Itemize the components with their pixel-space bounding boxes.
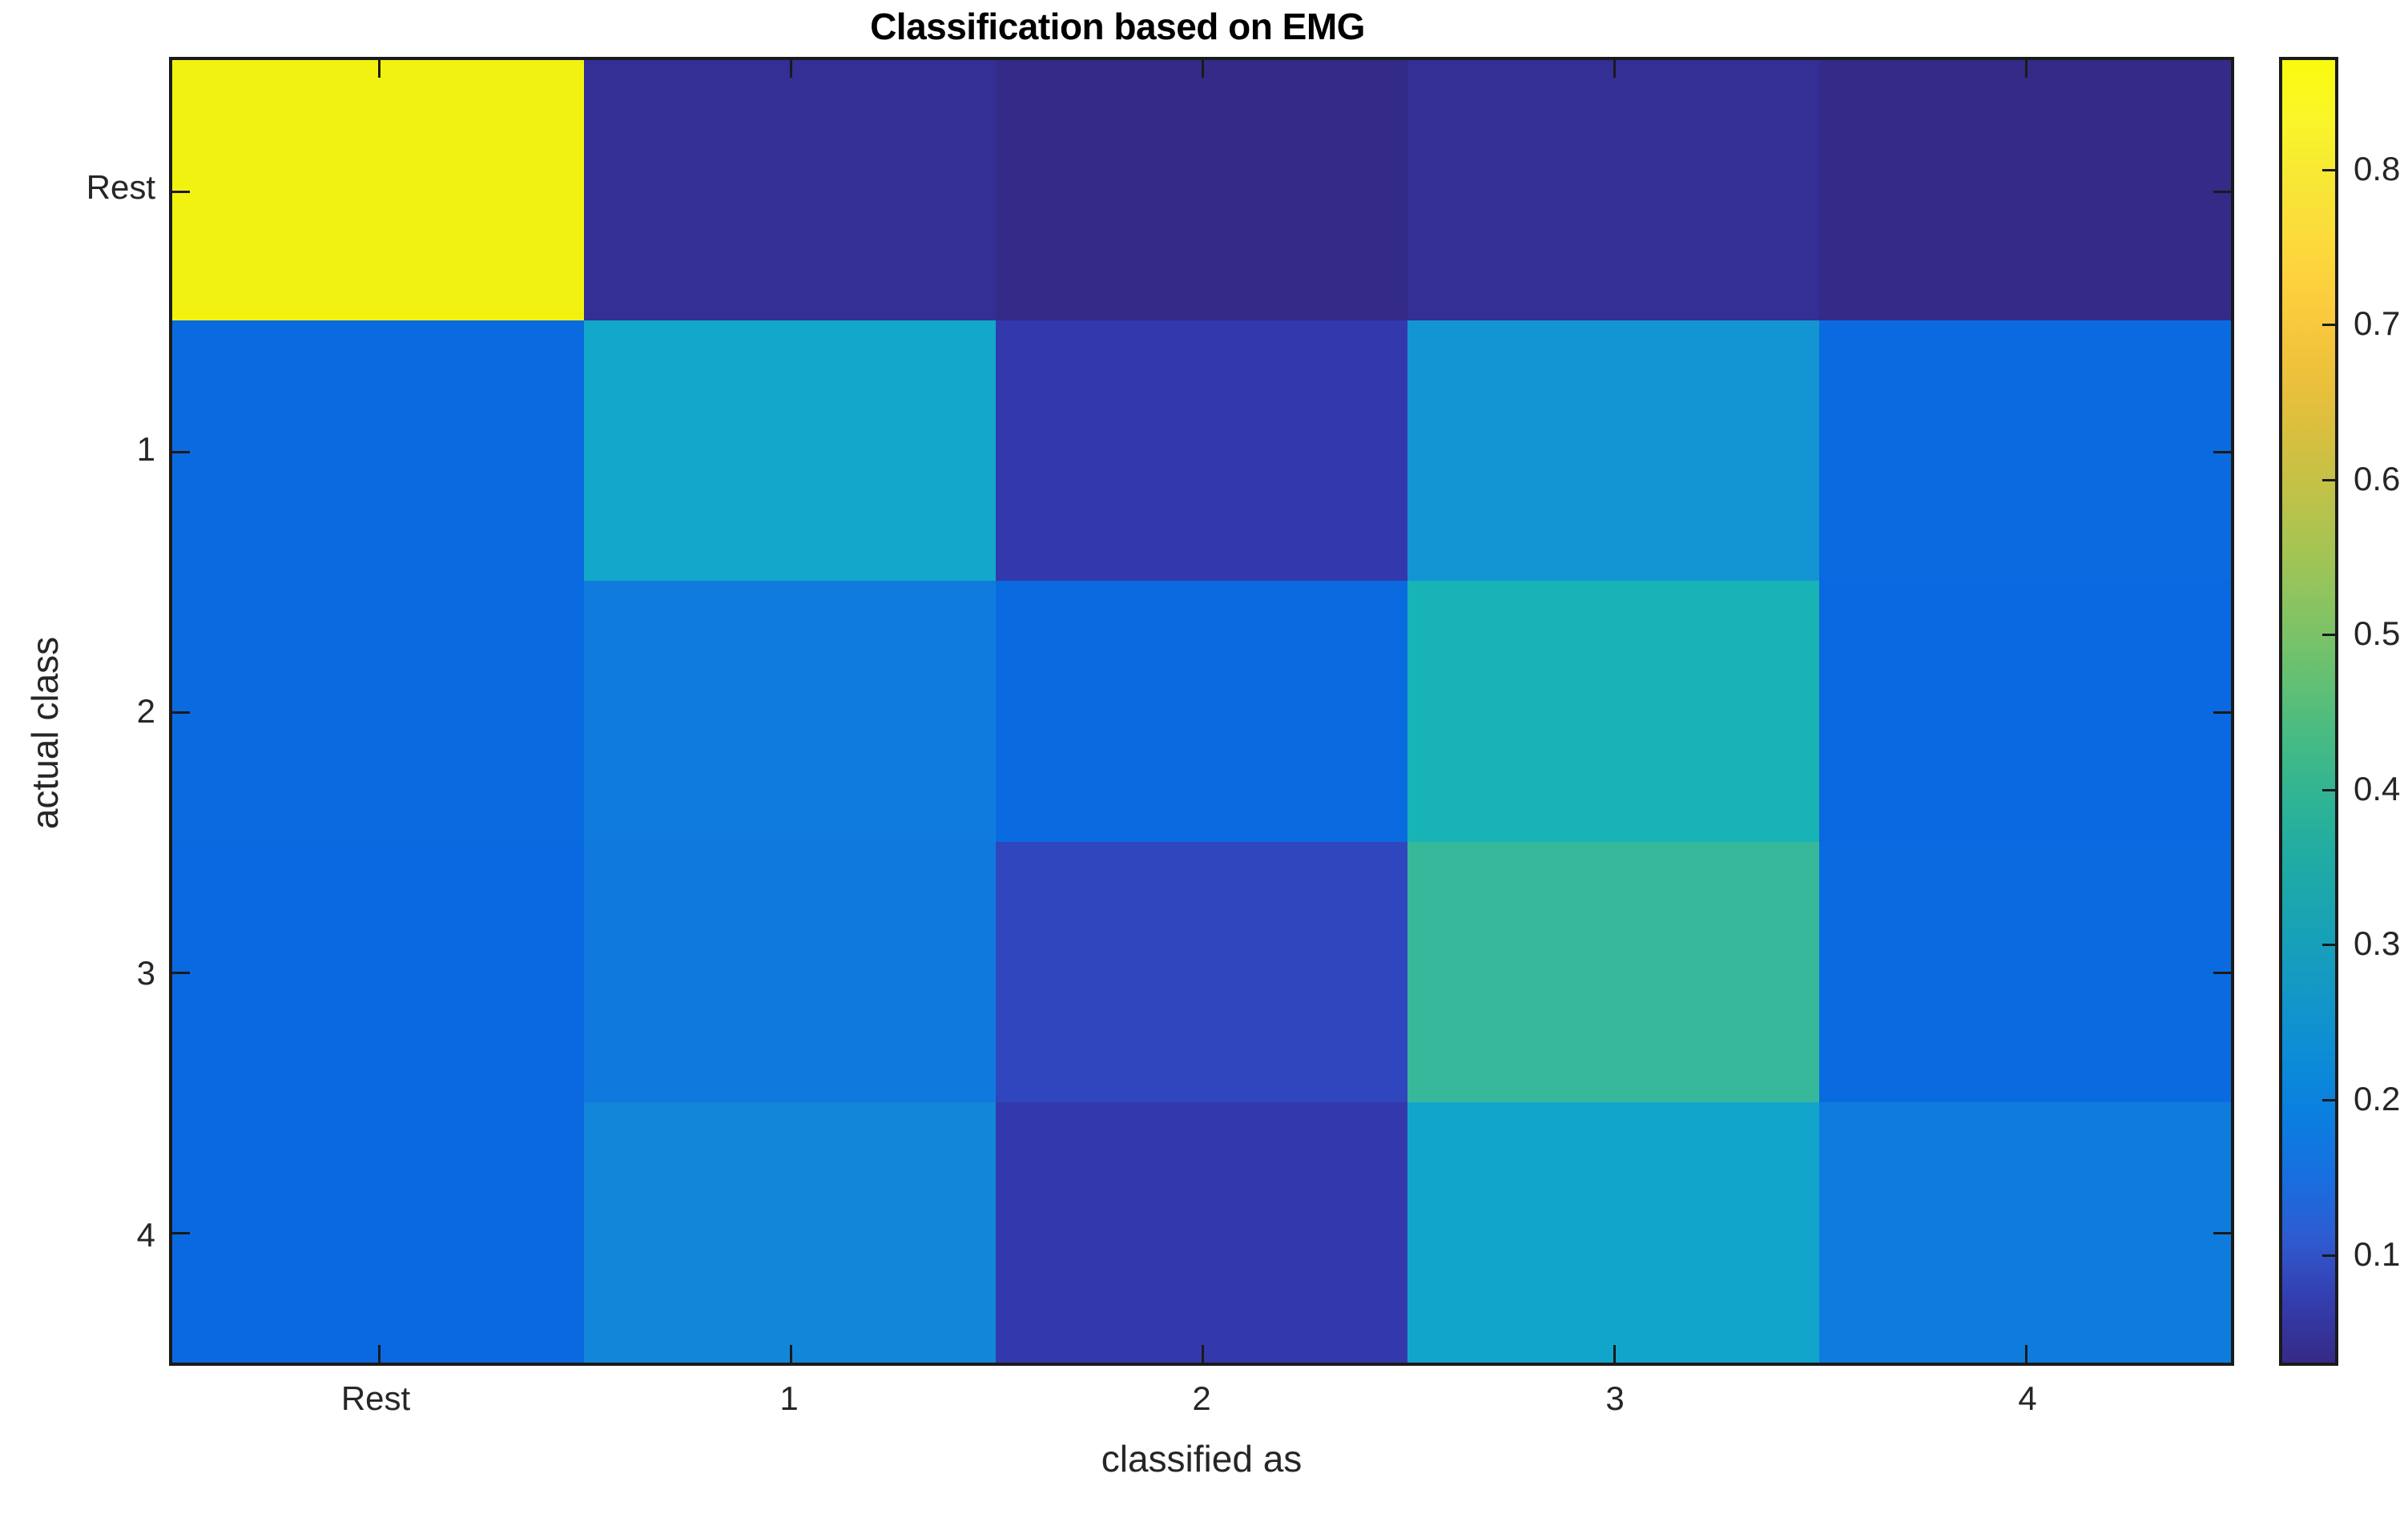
y-axis-tick: [2213, 711, 2231, 714]
colorbar-tick: [2322, 634, 2335, 636]
x-tick-label-3: 3: [1605, 1379, 1624, 1418]
heatmap-cell: [996, 581, 1407, 841]
heatmap-cell: [172, 581, 584, 841]
heatmap-cell: [1407, 1102, 1819, 1363]
heatmap-cell: [1819, 842, 2231, 1102]
heatmap-cell: [1407, 842, 1819, 1102]
colorbar-tick: [2322, 1099, 2335, 1101]
page-title: Classification based on EMG: [0, 5, 2235, 48]
heatmap-cell: [172, 1102, 584, 1363]
heatmap-cell: [172, 320, 584, 581]
x-tick-label-4: 4: [2018, 1379, 2036, 1418]
colorbar-gradient: [2282, 60, 2335, 1363]
colorbar-tick: [2322, 479, 2335, 481]
y-tick-label-rest: Rest: [87, 168, 155, 207]
heatmap-plot-area: [169, 57, 2234, 1366]
heatmap-cell: [1819, 320, 2231, 581]
y-axis-tick: [2213, 191, 2231, 193]
y-tick-label-4: 4: [137, 1216, 155, 1254]
heatmap-cell: [1407, 581, 1819, 841]
y-axis-tick: [2213, 972, 2231, 974]
y-axis-tick: [2213, 451, 2231, 453]
heatmap-cell: [1407, 320, 1819, 581]
heatmap-cell: [996, 320, 1407, 581]
x-tick-label-1: 1: [779, 1379, 798, 1418]
x-axis-tick: [1202, 1345, 1204, 1363]
x-axis-tick: [1202, 60, 1204, 78]
y-tick-label-2: 2: [137, 692, 155, 731]
y-axis-tick: [172, 1232, 190, 1234]
y-axis-tick: [172, 711, 190, 714]
x-axis-tick: [378, 1345, 381, 1363]
x-axis-tick: [1613, 1345, 1616, 1363]
colorbar-tick-label: 0.1: [2354, 1235, 2400, 1274]
x-axis-tick: [2025, 60, 2027, 78]
colorbar-tick-label: 0.4: [2354, 770, 2400, 808]
x-axis-tick: [2025, 1345, 2027, 1363]
colorbar-tick-label: 0.2: [2354, 1080, 2400, 1118]
y-axis-tick: [2213, 1232, 2231, 1234]
heatmap-cell: [584, 581, 996, 841]
y-tick-label-3: 3: [137, 954, 155, 993]
y-axis-tick: [172, 191, 190, 193]
heatmap-grid: [172, 60, 2231, 1363]
figure-canvas: Classification based on EMG actual class…: [0, 0, 2408, 1522]
y-tick-label-1: 1: [137, 430, 155, 469]
colorbar-tick-label: 0.7: [2354, 304, 2400, 343]
heatmap-cell: [584, 1102, 996, 1363]
heatmap-cell: [584, 842, 996, 1102]
colorbar-tick-label: 0.8: [2354, 150, 2400, 188]
x-axis-title: classified as: [169, 1437, 2234, 1480]
heatmap-cell: [1819, 1102, 2231, 1363]
colorbar-tick: [2322, 169, 2335, 171]
heatmap-cell: [584, 60, 996, 320]
y-axis-tick: [172, 972, 190, 974]
x-axis-tick: [790, 1345, 792, 1363]
x-tick-label-rest: Rest: [341, 1379, 410, 1418]
heatmap-cell: [584, 320, 996, 581]
heatmap-cell: [1407, 60, 1819, 320]
colorbar-tick: [2322, 944, 2335, 946]
x-axis-tick: [378, 60, 381, 78]
x-axis-tick: [1613, 60, 1616, 78]
heatmap-cell: [172, 60, 584, 320]
heatmap-cell: [996, 60, 1407, 320]
y-axis-title: actual class: [23, 493, 66, 973]
y-axis-tick: [172, 451, 190, 453]
colorbar-tick: [2322, 324, 2335, 326]
heatmap-cell: [1819, 60, 2231, 320]
colorbar-tick: [2322, 789, 2335, 791]
colorbar-tick-label: 0.6: [2354, 460, 2400, 498]
heatmap-cell: [1819, 581, 2231, 841]
colorbar-tick-label: 0.5: [2354, 614, 2400, 653]
heatmap-cell: [996, 842, 1407, 1102]
heatmap-cell: [172, 842, 584, 1102]
heatmap-cell: [996, 1102, 1407, 1363]
colorbar-tick-label: 0.3: [2354, 924, 2400, 963]
colorbar-tick: [2322, 1254, 2335, 1257]
colorbar[interactable]: [2279, 57, 2338, 1366]
x-tick-label-2: 2: [1192, 1379, 1210, 1418]
x-axis-tick: [790, 60, 792, 78]
